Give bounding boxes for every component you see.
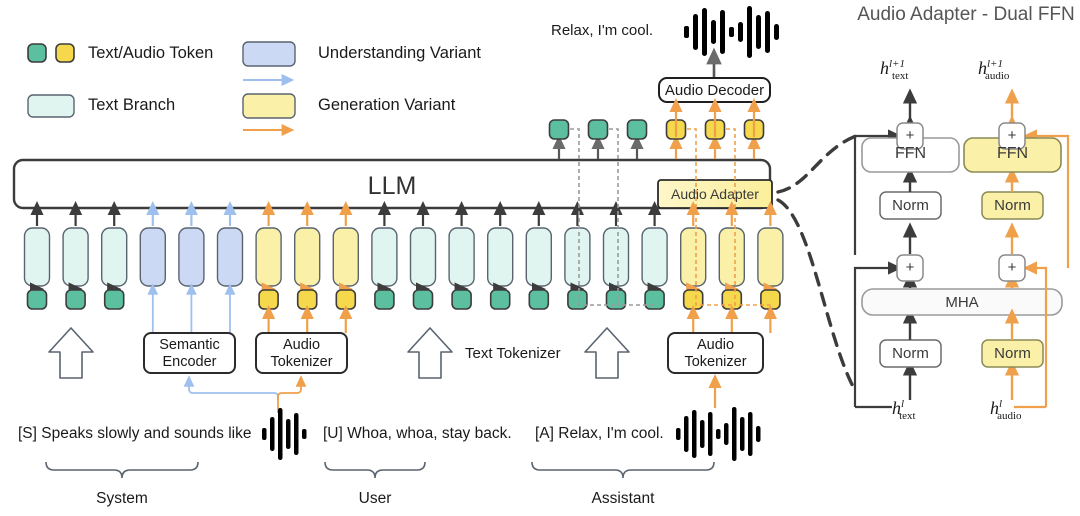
utterance-user-text: [U] Whoa, whoa, stay back.: [323, 425, 512, 443]
audio-tokenizer-assistant-label: Audio Tokenizer: [668, 337, 763, 371]
column-0-token-green[interactable]: [28, 290, 47, 309]
column-14-token-green[interactable]: [568, 290, 587, 309]
column-10-token-green[interactable]: [414, 290, 433, 309]
column-18-variant-yellow[interactable]: [719, 228, 744, 286]
column-11-variant-mint[interactable]: [449, 228, 474, 286]
column-3-variant-blue[interactable]: [140, 228, 165, 286]
adapter-input-audio-label: hlaudio: [990, 398, 1022, 422]
column-8-variant-yellow[interactable]: [333, 228, 358, 286]
legend-swatch-token-pair: [28, 44, 74, 62]
audio-adapter-label: Audio Adapter: [658, 186, 772, 202]
column-7-token-yellow[interactable]: [298, 290, 317, 309]
text-tokenizer-label: Text Tokenizer: [465, 345, 561, 362]
legend-swatch-understanding: [243, 42, 295, 66]
adapter-audio-add-top-label: +: [999, 127, 1025, 144]
column-14-variant-mint[interactable]: [565, 228, 590, 286]
output-token-1-green[interactable]: [589, 120, 608, 139]
column-15-token-green[interactable]: [607, 290, 626, 309]
column-1-variant-mint[interactable]: [63, 228, 88, 286]
column-1-token-green[interactable]: [66, 290, 85, 309]
column-6-variant-yellow[interactable]: [256, 228, 281, 286]
brace-label-user: User: [325, 490, 425, 508]
legend-label-generation-variant: Generation Variant: [318, 96, 455, 115]
llm-label: LLM: [14, 172, 770, 201]
adapter-text-add-bottom-label: +: [897, 259, 923, 276]
output-token-2-green[interactable]: [628, 120, 647, 139]
audio-decoder-inputs: [676, 105, 754, 137]
legend-label-text-branch: Text Branch: [88, 96, 175, 115]
adapter-connector-bottom: [778, 200, 856, 392]
legend-label-understanding-variant: Understanding Variant: [318, 44, 481, 63]
adapter-output-audio-label: hl+1audio: [978, 58, 1009, 82]
adapter-text-ffn-label: FFN: [862, 145, 959, 163]
text-tokenizer-arrow-1: [49, 328, 93, 378]
adapter-audio-ffn-label: FFN: [964, 145, 1061, 163]
column-12-token-green[interactable]: [491, 290, 510, 309]
audio-tokenizer-system-line1: Audio: [283, 337, 320, 353]
semantic-encoder-line2: Encoder: [162, 354, 216, 370]
semantic-encoder-label: Semantic Encoder: [144, 337, 235, 371]
column-11-token-green[interactable]: [452, 290, 471, 309]
system-waveform-icon: [262, 408, 307, 460]
brace-system: [46, 462, 198, 478]
column-17-variant-yellow[interactable]: [681, 228, 706, 286]
output-caption: Relax, I'm cool.: [551, 22, 653, 39]
text-tokenizer-arrow-3: [585, 328, 629, 378]
semantic-encoder-line1: Semantic: [159, 337, 219, 353]
audio-tokenizer-assistant-line1: Audio: [697, 337, 734, 353]
brace-user: [325, 462, 425, 478]
column-7-variant-yellow[interactable]: [295, 228, 320, 286]
column-19-variant-yellow[interactable]: [758, 228, 783, 286]
column-9-token-green[interactable]: [375, 290, 394, 309]
column-6-token-yellow[interactable]: [259, 290, 278, 309]
legend-swatch-text-branch: [28, 95, 74, 117]
adapter-mha-label: MHA: [862, 294, 1062, 311]
utterance-assistant-text: [A] Relax, I'm cool.: [535, 425, 664, 443]
column-2-variant-mint[interactable]: [102, 228, 127, 286]
column-18-token-yellow[interactable]: [722, 290, 741, 309]
column-12-variant-mint[interactable]: [488, 228, 513, 286]
adapter-input-text-label: hltext: [892, 398, 916, 422]
adapter-output-text-label: hl+1text: [880, 58, 908, 82]
column-13-variant-mint[interactable]: [526, 228, 551, 286]
column-4-variant-blue[interactable]: [179, 228, 204, 286]
column-0-variant-mint[interactable]: [25, 228, 50, 286]
adapter-audio-add-bottom-label: +: [999, 259, 1025, 276]
column-5-variant-blue[interactable]: [218, 228, 243, 286]
audio-tokenizer-system-label: Audio Tokenizer: [256, 337, 347, 371]
adapter-text-add-top-label: +: [897, 127, 923, 144]
utterance-system-text: [S] Speaks slowly and sounds like: [18, 425, 251, 443]
adapter-audio-norm-bottom-label: Norm: [982, 345, 1043, 362]
column-13-token-green[interactable]: [529, 290, 548, 309]
adapter-title: Audio Adapter - Dual FFN: [855, 4, 1077, 26]
system-audio-to-tokenizer-wire: [278, 381, 301, 413]
output-token-0-green[interactable]: [550, 120, 569, 139]
column-19-token-yellow[interactable]: [761, 290, 780, 309]
audio-tokenizer-assistant-line2: Tokenizer: [684, 354, 746, 370]
column-15-variant-mint[interactable]: [604, 228, 629, 286]
legend-swatch-generation: [243, 94, 295, 118]
column-16-variant-mint[interactable]: [642, 228, 667, 286]
column-10-variant-mint[interactable]: [411, 228, 436, 286]
system-audio-to-encoder-wire: [189, 381, 278, 400]
column-2-token-green[interactable]: [105, 290, 124, 309]
brace-label-system: System: [46, 490, 198, 508]
audio-decoder-label: Audio Decoder: [659, 82, 770, 99]
column-8-token-yellow[interactable]: [336, 290, 355, 309]
output-waveform-icon: [684, 6, 779, 58]
column-9-variant-mint[interactable]: [372, 228, 397, 286]
adapter-text-norm-bottom-label: Norm: [880, 345, 941, 362]
brace-assistant: [532, 462, 714, 478]
token-columns-layer: [25, 208, 783, 333]
column-16-token-green[interactable]: [645, 290, 664, 309]
column-17-token-yellow[interactable]: [684, 290, 703, 309]
adapter-audio-norm-top-label: Norm: [982, 197, 1043, 214]
legend-label-text-audio-token: Text/Audio Token: [88, 44, 213, 63]
adapter-connector-top: [778, 136, 856, 192]
assistant-waveform-icon: [676, 407, 761, 461]
brace-label-assistant: Assistant: [532, 490, 714, 508]
adapter-text-norm-top-label: Norm: [880, 197, 941, 214]
text-tokenizer-arrow-2: [408, 328, 452, 378]
audio-tokenizer-system-line2: Tokenizer: [270, 354, 332, 370]
diagram-root: Text/Audio Token Text Branch Understandi…: [0, 0, 1080, 516]
